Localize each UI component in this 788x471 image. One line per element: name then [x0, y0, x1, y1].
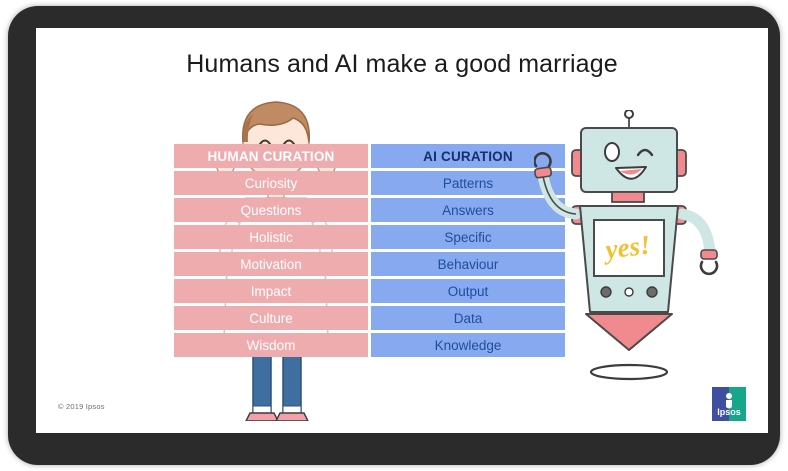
- ipsos-logo-text: Ipsos: [717, 407, 741, 417]
- table-row: Culture Data: [174, 306, 566, 330]
- device-frame: Humans and AI make a good marriage: [8, 6, 780, 465]
- table-row: Impact Output: [174, 279, 566, 303]
- column-header-human: HUMAN CURATION: [174, 144, 368, 168]
- cell-ai: Answers: [371, 198, 565, 222]
- copyright-text: © 2019 Ipsos: [58, 402, 105, 411]
- page-title: Humans and AI make a good marriage: [36, 50, 768, 79]
- column-header-ai: AI CURATION: [371, 144, 565, 168]
- robot-screen-text: yes!: [601, 229, 652, 265]
- cell-ai: Specific: [371, 225, 565, 249]
- cell-human: Impact: [174, 279, 368, 303]
- cell-human: Curiosity: [174, 171, 368, 195]
- cell-ai: Patterns: [371, 171, 565, 195]
- cell-human: Wisdom: [174, 333, 368, 357]
- cell-human: Questions: [174, 198, 368, 222]
- table-row: Motivation Behaviour: [174, 252, 566, 276]
- cell-ai: Behaviour: [371, 252, 565, 276]
- cell-ai: Data: [371, 306, 565, 330]
- table-row: Wisdom Knowledge: [174, 333, 566, 357]
- table-row: Curiosity Patterns: [174, 171, 566, 195]
- table-row: Questions Answers: [174, 198, 566, 222]
- slide-screen: Humans and AI make a good marriage: [36, 28, 768, 433]
- cell-human: Holistic: [174, 225, 368, 249]
- table-row: Holistic Specific: [174, 225, 566, 249]
- table-header-row: HUMAN CURATION AI CURATION: [174, 144, 566, 168]
- comparison-table: HUMAN CURATION AI CURATION Curiosity Pat…: [174, 144, 566, 360]
- ipsos-logo: Ipsos: [712, 387, 746, 421]
- cell-human: Culture: [174, 306, 368, 330]
- cell-human: Motivation: [174, 252, 368, 276]
- cell-ai: Knowledge: [371, 333, 565, 357]
- cell-ai: Output: [371, 279, 565, 303]
